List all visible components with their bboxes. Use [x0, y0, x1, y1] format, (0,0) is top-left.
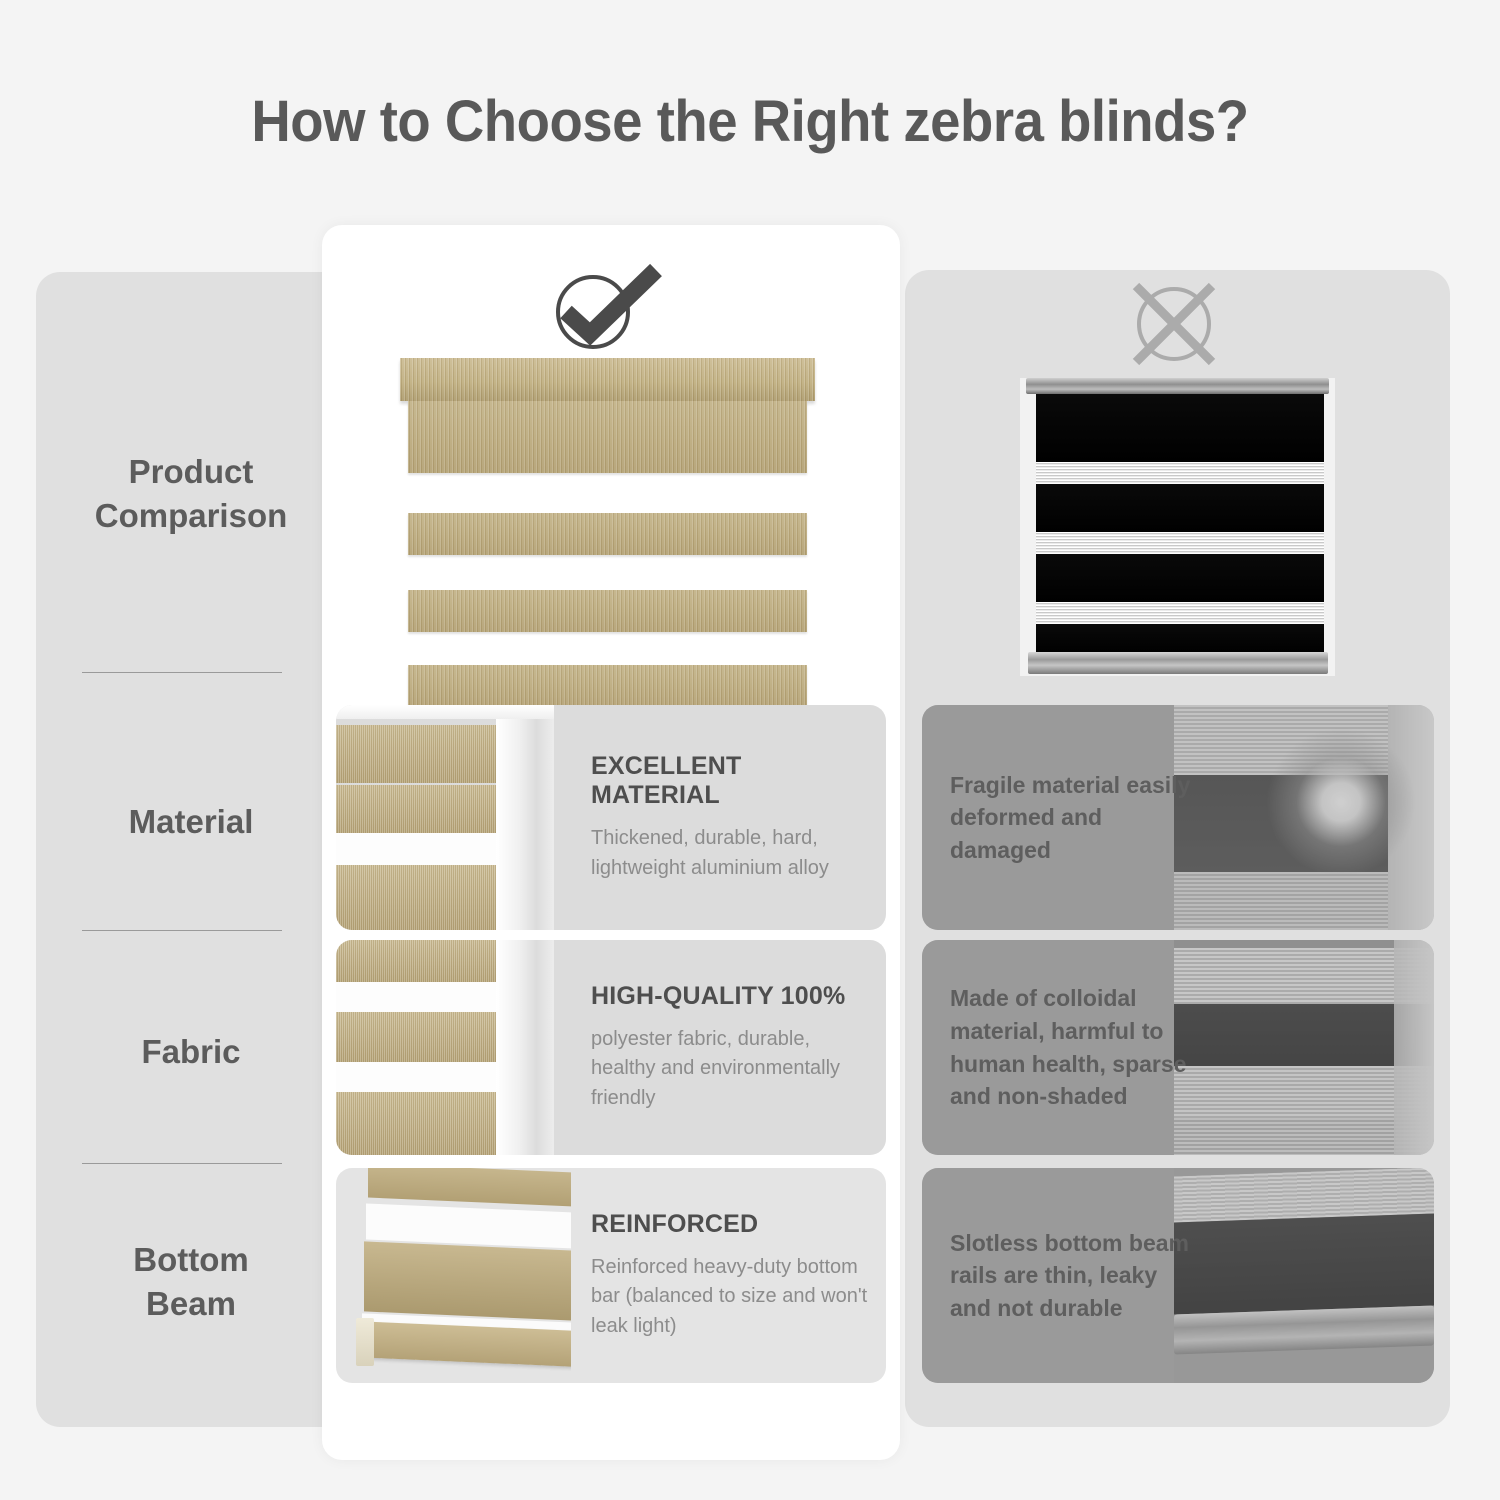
bad-product-sheer-band [1036, 462, 1324, 484]
page-title: How to Choose the Right zebra blinds? [45, 88, 1455, 155]
good-feature-fabric: HIGH-QUALITY 100% polyester fabric, dura… [336, 940, 886, 1155]
row-label-product-comparison: Product Comparison [60, 450, 322, 537]
row-label-line2: Comparison [95, 497, 288, 534]
good-feature-bottom-beam-image [336, 1168, 571, 1383]
bad-product-hero-image [1020, 378, 1335, 676]
good-product-slat [408, 401, 807, 473]
bad-product-black-band [1036, 484, 1324, 532]
good-feature-title: REINFORCED [591, 1210, 876, 1239]
row-label-line1: Product [129, 453, 254, 490]
bad-product-headrail [1026, 378, 1329, 394]
comparison-label-column: Product Comparison Material Fabric Botto… [60, 300, 322, 1400]
row-label-material: Material [60, 800, 322, 844]
check-circle-icon [548, 262, 668, 354]
good-feature-title: EXCELLENT MATERIAL [591, 752, 876, 810]
bad-product-sheer-band [1036, 532, 1324, 554]
good-feature-body: polyester fabric, durable, healthy and e… [591, 1025, 876, 1114]
bad-feature-bottom-beam: Slotless bottom beam rails are thin, lea… [922, 1168, 1434, 1383]
good-product-valance [400, 358, 815, 401]
bad-feature-material: Fragile material easily deformed and dam… [922, 705, 1434, 930]
good-feature-body: Reinforced heavy-duty bottom bar (balanc… [591, 1253, 876, 1342]
good-feature-bottom-beam-text: REINFORCED Reinforced heavy-duty bottom … [591, 1168, 876, 1383]
bad-feature-fabric-text: Made of colloidal material, harmful to h… [950, 940, 1200, 1155]
good-feature-title: HIGH-QUALITY 100% [591, 982, 876, 1011]
row-label-line2: Beam [146, 1285, 236, 1322]
row-divider-2 [82, 930, 282, 931]
good-feature-fabric-text: HIGH-QUALITY 100% polyester fabric, dura… [591, 940, 876, 1155]
bad-feature-fabric: Made of colloidal material, harmful to h… [922, 940, 1434, 1155]
row-label-line1: Material [129, 803, 254, 840]
bad-product-black-band [1036, 394, 1324, 462]
bad-product-black-band [1036, 624, 1324, 654]
good-feature-fabric-image [336, 940, 554, 1155]
bad-product-sheer-band [1036, 602, 1324, 624]
cross-circle-icon [1128, 278, 1220, 370]
bad-product-black-band [1036, 554, 1324, 602]
row-label-line1: Fabric [141, 1033, 240, 1070]
row-divider-3 [82, 1163, 282, 1164]
bad-feature-bottom-beam-text: Slotless bottom beam rails are thin, lea… [950, 1168, 1200, 1383]
good-product-hero-image [400, 358, 815, 698]
row-label-bottom-beam: Bottom Beam [60, 1238, 322, 1325]
good-feature-bottom-beam: REINFORCED Reinforced heavy-duty bottom … [336, 1168, 886, 1383]
good-product-slat [408, 665, 807, 707]
row-label-fabric: Fabric [60, 1030, 322, 1074]
good-feature-body: Thickened, durable, hard, lightweight al… [591, 824, 876, 883]
row-divider-1 [82, 672, 282, 673]
good-feature-material: EXCELLENT MATERIAL Thickened, durable, h… [336, 705, 886, 930]
good-product-slat [408, 590, 807, 632]
row-label-line1: Bottom [133, 1241, 248, 1278]
good-feature-material-text: EXCELLENT MATERIAL Thickened, durable, h… [591, 705, 876, 930]
good-product-slat [408, 513, 807, 555]
infographic-canvas: How to Choose the Right zebra blinds? Pr… [0, 0, 1500, 1500]
bad-feature-material-text: Fragile material easily deformed and dam… [950, 705, 1200, 930]
good-feature-material-image [336, 705, 554, 930]
bad-product-bottom-bar [1028, 652, 1328, 674]
